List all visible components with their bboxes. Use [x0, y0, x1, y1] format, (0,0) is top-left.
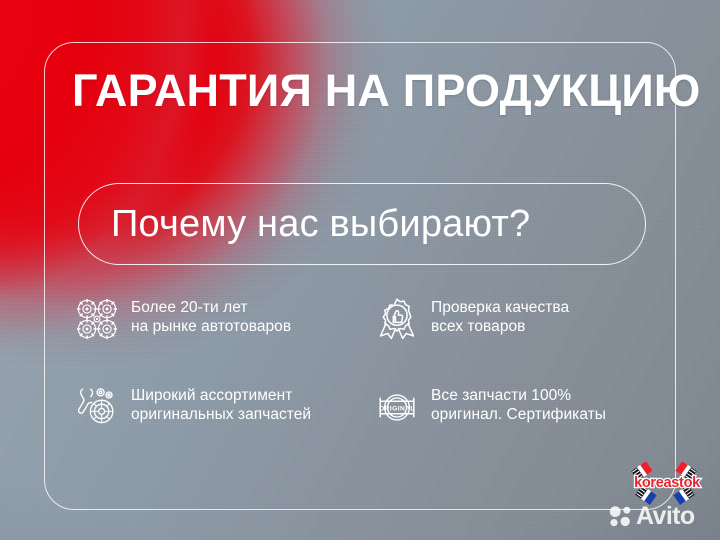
feature-item-quality: Проверка качества всех товаров [374, 295, 664, 383]
feature-line-1: Все запчасти 100% [431, 387, 571, 404]
banner-canvas: ГАРАНТИЯ НА ПРОДУКЦИЮ Почему нас выбираю… [0, 0, 720, 540]
feature-item-original: ORIGINAL Все запчасти 100% оригинал. Сер… [374, 383, 664, 455]
feature-list: Более 20-ти лет на рынке автотоваров Про… [74, 295, 664, 455]
feature-label-original: Все запчасти 100% оригинал. Сертификаты [431, 383, 606, 424]
feature-item-assortment: Широкий ассортимент оригинальных запчаст… [74, 383, 374, 455]
avito-dots-icon [609, 505, 633, 527]
avito-watermark: Avito [609, 500, 713, 532]
feature-line-2: всех товаров [431, 318, 525, 335]
quality-badge-thumbs-up-icon [374, 296, 420, 342]
feature-line-1: Более 20-ти лет [131, 299, 248, 316]
original-stamp-icon: ORIGINAL [374, 384, 420, 430]
page-title: ГАРАНТИЯ НА ПРОДУКЦИЮ [72, 66, 672, 116]
feature-label-quality: Проверка качества всех товаров [431, 295, 569, 336]
feature-line-2: оригинал. Сертификаты [431, 406, 606, 423]
feature-line-1: Широкий ассортимент [131, 387, 292, 404]
wrench-gears-icon [74, 384, 120, 430]
feature-line-2: оригинальных запчастей [131, 406, 311, 423]
subtitle-pill-label: Почему нас выбирают? [79, 202, 530, 246]
svg-text:ORIGINAL: ORIGINAL [379, 405, 415, 412]
brand-wordmark: koreastok [634, 475, 701, 491]
subtitle-pill: Почему нас выбирают? [78, 183, 646, 265]
feature-line-1: Проверка качества [431, 299, 569, 316]
feature-line-2: на рынке автотоваров [131, 318, 291, 335]
feature-item-experience: Более 20-ти лет на рынке автотоваров [74, 295, 374, 383]
avito-wordmark: Avito [636, 504, 695, 529]
four-gears-icon [74, 296, 120, 342]
feature-label-experience: Более 20-ти лет на рынке автотоваров [131, 295, 291, 336]
feature-label-assortment: Широкий ассортимент оригинальных запчаст… [131, 383, 311, 424]
